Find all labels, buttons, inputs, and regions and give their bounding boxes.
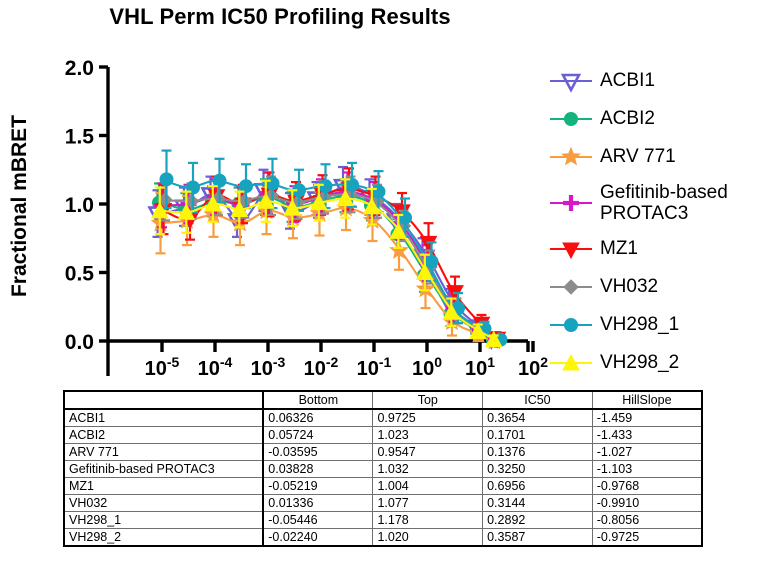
x-tick-label: 10-3 (251, 354, 286, 376)
chart-page: VHL Perm IC50 Profiling Results 2.01.51.… (0, 0, 765, 587)
legend-item-mz1[interactable]: MZ1 (548, 230, 765, 268)
table-header: BottomTopIC50HillSlope (64, 391, 702, 409)
x-tick-label: 101 (465, 354, 495, 376)
legend-marker-icon (548, 69, 594, 93)
marker-circle (266, 177, 279, 190)
page-title: VHL Perm IC50 Profiling Results (0, 4, 560, 30)
x-tick-base: 10 (465, 358, 487, 376)
table-cell-hillslope: -1.027 (592, 444, 702, 461)
legend-marker-svg (548, 351, 594, 375)
table-cell-bottom: 0.03828 (263, 461, 373, 478)
legend-item-label: ACBI2 (594, 108, 655, 129)
table-cell-compound: ACBI2 (64, 427, 263, 444)
marker-circle (565, 113, 578, 126)
series-layer (150, 151, 507, 349)
table-cell-bottom: 0.06326 (263, 409, 373, 427)
table-cell-hillslope: -1.459 (592, 409, 702, 427)
legend-item-vh032[interactable]: VH032 (548, 268, 765, 306)
y-tick-label: 1.5 (65, 126, 95, 149)
x-tick-label: 10-2 (304, 354, 339, 376)
table-cell-ic50: 0.3587 (483, 529, 593, 547)
table-cell-bottom: -0.05219 (263, 478, 373, 495)
legend-item-label: VH032 (594, 276, 658, 297)
table-cell-bottom: -0.05446 (263, 512, 373, 529)
legend-marker-icon (548, 313, 594, 337)
y-tick-label: 0.5 (65, 263, 95, 286)
legend-item-vh298-2[interactable]: VH298_2 (548, 344, 765, 382)
marker-circle (372, 185, 385, 198)
table-cell-top: 0.9725 (373, 409, 483, 427)
table-cell-ic50: 0.1701 (483, 427, 593, 444)
table-cell-hillslope: -0.9910 (592, 495, 702, 512)
marker-diamond (564, 280, 578, 294)
legend-item-label: VH298_2 (594, 352, 679, 373)
table-corner-cell (64, 391, 263, 409)
table-row: Gefitinib-based PROTAC30.038281.0320.325… (64, 461, 702, 478)
legend-marker-svg (548, 275, 594, 299)
y-tick-label: 1.0 (65, 194, 94, 217)
legend-item-vh298-1[interactable]: VH298_1 (548, 306, 765, 344)
legend-marker-svg (548, 191, 594, 215)
x-tick-exponent: -1 (379, 354, 392, 370)
table-cell-top: 1.004 (373, 478, 483, 495)
table-cell-top: 0.9547 (373, 444, 483, 461)
legend-item-acbi2[interactable]: ACBI2 (548, 100, 765, 138)
marker-triangle-down (563, 243, 579, 258)
table-row: VH298_2-0.022401.0200.3587-0.9725 (64, 529, 702, 547)
marker-star (562, 148, 579, 164)
y-axis-title: Fractional mBRET (8, 115, 31, 297)
table-cell-ic50: 0.6956 (483, 478, 593, 495)
table-cell-hillslope: -1.103 (592, 461, 702, 478)
x-tick-base: 10 (412, 358, 434, 376)
legend-item-label: Gefitinib-based PROTAC3 (594, 182, 728, 225)
x-tick-base: 10 (145, 358, 167, 376)
legend-item-gefitinib-based-protac3[interactable]: Gefitinib-based PROTAC3 (548, 176, 765, 230)
table-cell-hillslope: -1.433 (592, 427, 702, 444)
table-cell-top: 1.032 (373, 461, 483, 478)
x-tick-base: 10 (198, 358, 220, 376)
marker-circle (425, 255, 438, 268)
x-tick-exponent: 0 (434, 354, 442, 370)
x-tick-exponent: -4 (220, 354, 233, 370)
table-cell-compound: VH298_1 (64, 512, 263, 529)
table-row: VH0320.013361.0770.3144-0.9910 (64, 495, 702, 512)
marker-circle (565, 319, 578, 332)
x-tick-label: 102 (518, 354, 548, 376)
y-tick-label: 0.0 (65, 331, 94, 354)
table-col-header: HillSlope (592, 391, 702, 409)
table-cell-ic50: 0.2892 (483, 512, 593, 529)
table-cell-compound: VH298_2 (64, 529, 263, 547)
marker-triangle-down-open (563, 75, 579, 90)
legend-item-label: ARV 771 (594, 146, 676, 167)
legend-marker-icon (548, 107, 594, 131)
legend-marker-svg (548, 145, 594, 169)
table-cell-compound: Gefitinib-based PROTAC3 (64, 461, 263, 478)
legend-marker-svg (548, 107, 594, 131)
table-cell-bottom: 0.01336 (263, 495, 373, 512)
x-tick-base: 10 (251, 358, 273, 376)
table-col-header: Bottom (263, 391, 373, 409)
x-tick-base: 10 (357, 358, 379, 376)
x-tick-exponent: -2 (326, 354, 339, 370)
x-tick-base: 10 (518, 358, 540, 376)
table-cell-ic50: 0.3250 (483, 461, 593, 478)
x-tick-label: 10-5 (145, 354, 180, 376)
legend-marker-icon (548, 351, 594, 375)
legend-item-label: MZ1 (594, 238, 638, 259)
y-tick-label: 2.0 (65, 57, 94, 80)
table-cell-top: 1.178 (373, 512, 483, 529)
legend-marker-icon (548, 275, 594, 299)
marker-circle (160, 173, 173, 186)
table-cell-compound: MZ1 (64, 478, 263, 495)
plot-svg: 2.01.51.00.50.0-0.510-510-410-310-210-11… (0, 46, 560, 376)
legend-marker-icon (548, 145, 594, 169)
table-row: MZ1-0.052191.0040.6956-0.9768 (64, 478, 702, 495)
table-cell-hillslope: -0.9768 (592, 478, 702, 495)
legend-item-acbi1[interactable]: ACBI1 (548, 62, 765, 100)
table-cell-bottom: 0.05724 (263, 427, 373, 444)
table-row: ACBI10.063260.97250.3654-1.459 (64, 409, 702, 427)
table-cell-compound: ACBI1 (64, 409, 263, 427)
axes: 2.01.51.00.50.0-0.510-510-410-310-210-11… (8, 57, 548, 376)
legend-item-arv-771[interactable]: ARV 771 (548, 138, 765, 176)
table-cell-top: 1.023 (373, 427, 483, 444)
x-tick-exponent: 1 (487, 354, 495, 370)
marker-circle (399, 211, 412, 224)
table-cell-compound: ARV 771 (64, 444, 263, 461)
legend-marker-svg (548, 69, 594, 93)
legend-marker-svg (548, 313, 594, 337)
table-cell-hillslope: -0.9725 (592, 529, 702, 547)
chart-legend: ACBI1ACBI2ARV 771Gefitinib-based PROTAC3… (548, 62, 765, 382)
x-tick-label: 100 (412, 354, 442, 376)
x-tick-exponent: -3 (273, 354, 286, 370)
table-row: ACBI20.057241.0230.1701-1.433 (64, 427, 702, 444)
table-header-row: BottomTopIC50HillSlope (64, 391, 702, 409)
table-cell-top: 1.077 (373, 495, 483, 512)
legend-item-label: VH298_1 (594, 314, 679, 335)
legend-marker-svg (548, 237, 594, 261)
table-col-header: Top (373, 391, 483, 409)
table-cell-bottom: -0.03595 (263, 444, 373, 461)
marker-plus (563, 195, 579, 211)
table-cell-bottom: -0.02240 (263, 529, 373, 547)
results-table: BottomTopIC50HillSlope ACBI10.063260.972… (63, 390, 703, 547)
legend-marker-icon (548, 237, 594, 261)
x-tick-base: 10 (304, 358, 326, 376)
marker-circle (319, 180, 332, 193)
table-cell-top: 1.020 (373, 529, 483, 547)
x-tick-label: 10-1 (357, 354, 392, 376)
table-col-header: IC50 (483, 391, 593, 409)
table-cell-ic50: 0.1376 (483, 444, 593, 461)
table-cell-ic50: 0.3144 (483, 495, 593, 512)
x-tick-exponent: -5 (167, 354, 180, 370)
table-row: ARV 771-0.035950.95470.1376-1.027 (64, 444, 702, 461)
table-cell-ic50: 0.3654 (483, 409, 593, 427)
table-row: VH298_1-0.054461.1780.2892-0.8056 (64, 512, 702, 529)
x-tick-label: 10-4 (198, 354, 233, 376)
legend-marker-icon (548, 191, 594, 215)
legend-item-label: ACBI1 (594, 70, 655, 91)
plot-area: 2.01.51.00.50.0-0.510-510-410-310-210-11… (0, 46, 560, 376)
table-body: ACBI10.063260.97250.3654-1.459ACBI20.057… (64, 409, 702, 546)
table-cell-hillslope: -0.8056 (592, 512, 702, 529)
table-cell-compound: VH032 (64, 495, 263, 512)
